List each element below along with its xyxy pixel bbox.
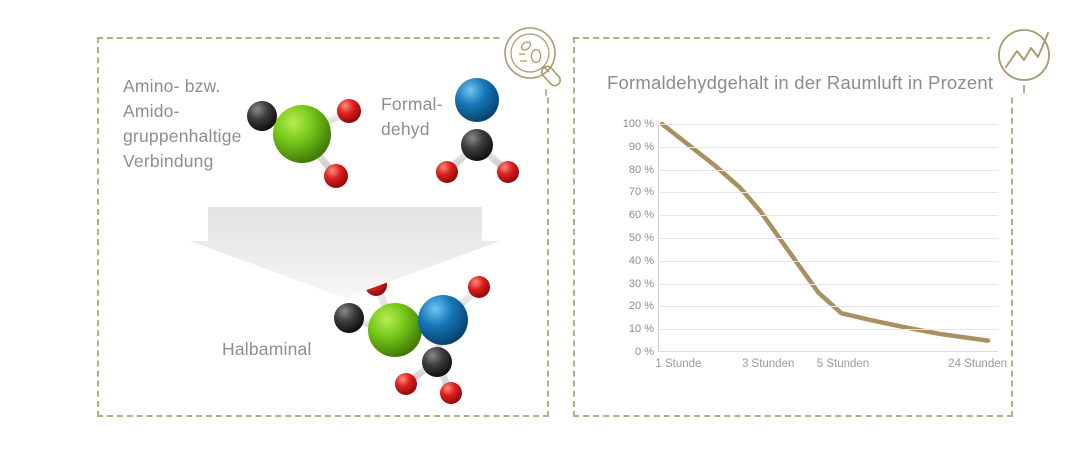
y-axis-tick: 20 %: [629, 300, 654, 312]
gridline: [658, 329, 998, 330]
chart-title: Formaldehydgehalt in der Raumluft in Pro…: [607, 72, 993, 94]
y-axis-tick: 80 %: [629, 164, 654, 176]
y-axis-labels: 100 %90 %80 %70 %60 %50 %40 %30 %20 %10 …: [608, 124, 654, 352]
y-axis-tick: 50 %: [629, 232, 654, 244]
y-axis-tick: 60 %: [629, 209, 654, 221]
formaldehyde-molecule: [432, 72, 527, 187]
product-hemiaminal-label: Halbaminal: [222, 337, 312, 362]
y-axis-tick: 40 %: [629, 255, 654, 267]
gridline: [658, 124, 998, 125]
infographic-canvas: Amino- bzw. Amido- gruppenhaltige Verbin…: [0, 0, 1080, 462]
y-axis-tick: 10 %: [629, 323, 654, 335]
gridline: [658, 306, 998, 307]
x-axis-tick: 5 Stunden: [817, 358, 869, 370]
x-axis-labels: 1 Stunde3 Stunden5 Stunden24 Stunden: [658, 358, 998, 380]
y-axis-tick: 30 %: [629, 278, 654, 290]
gridline: [658, 215, 998, 216]
x-axis-tick: 24 Stunden: [948, 358, 1007, 370]
downward-arrow: [190, 203, 500, 298]
x-axis-tick: 1 Stunde: [655, 358, 701, 370]
gridline: [658, 238, 998, 239]
gridline: [658, 170, 998, 171]
trend-chart-icon: [990, 23, 1064, 97]
x-axis-tick: 3 Stunden: [742, 358, 794, 370]
y-axis-tick: 90 %: [629, 141, 654, 153]
y-axis-tick: 100 %: [623, 118, 654, 130]
plot-area: [658, 124, 998, 352]
gridline: [658, 192, 998, 193]
amine-molecule: [238, 82, 368, 197]
y-axis-tick: 70 %: [629, 186, 654, 198]
y-axis-tick: 0 %: [635, 346, 654, 358]
gridline: [658, 284, 998, 285]
gridline: [658, 261, 998, 262]
gridline: [658, 147, 998, 148]
line-chart: 100 %90 %80 %70 %60 %50 %40 %30 %20 %10 …: [608, 124, 998, 379]
